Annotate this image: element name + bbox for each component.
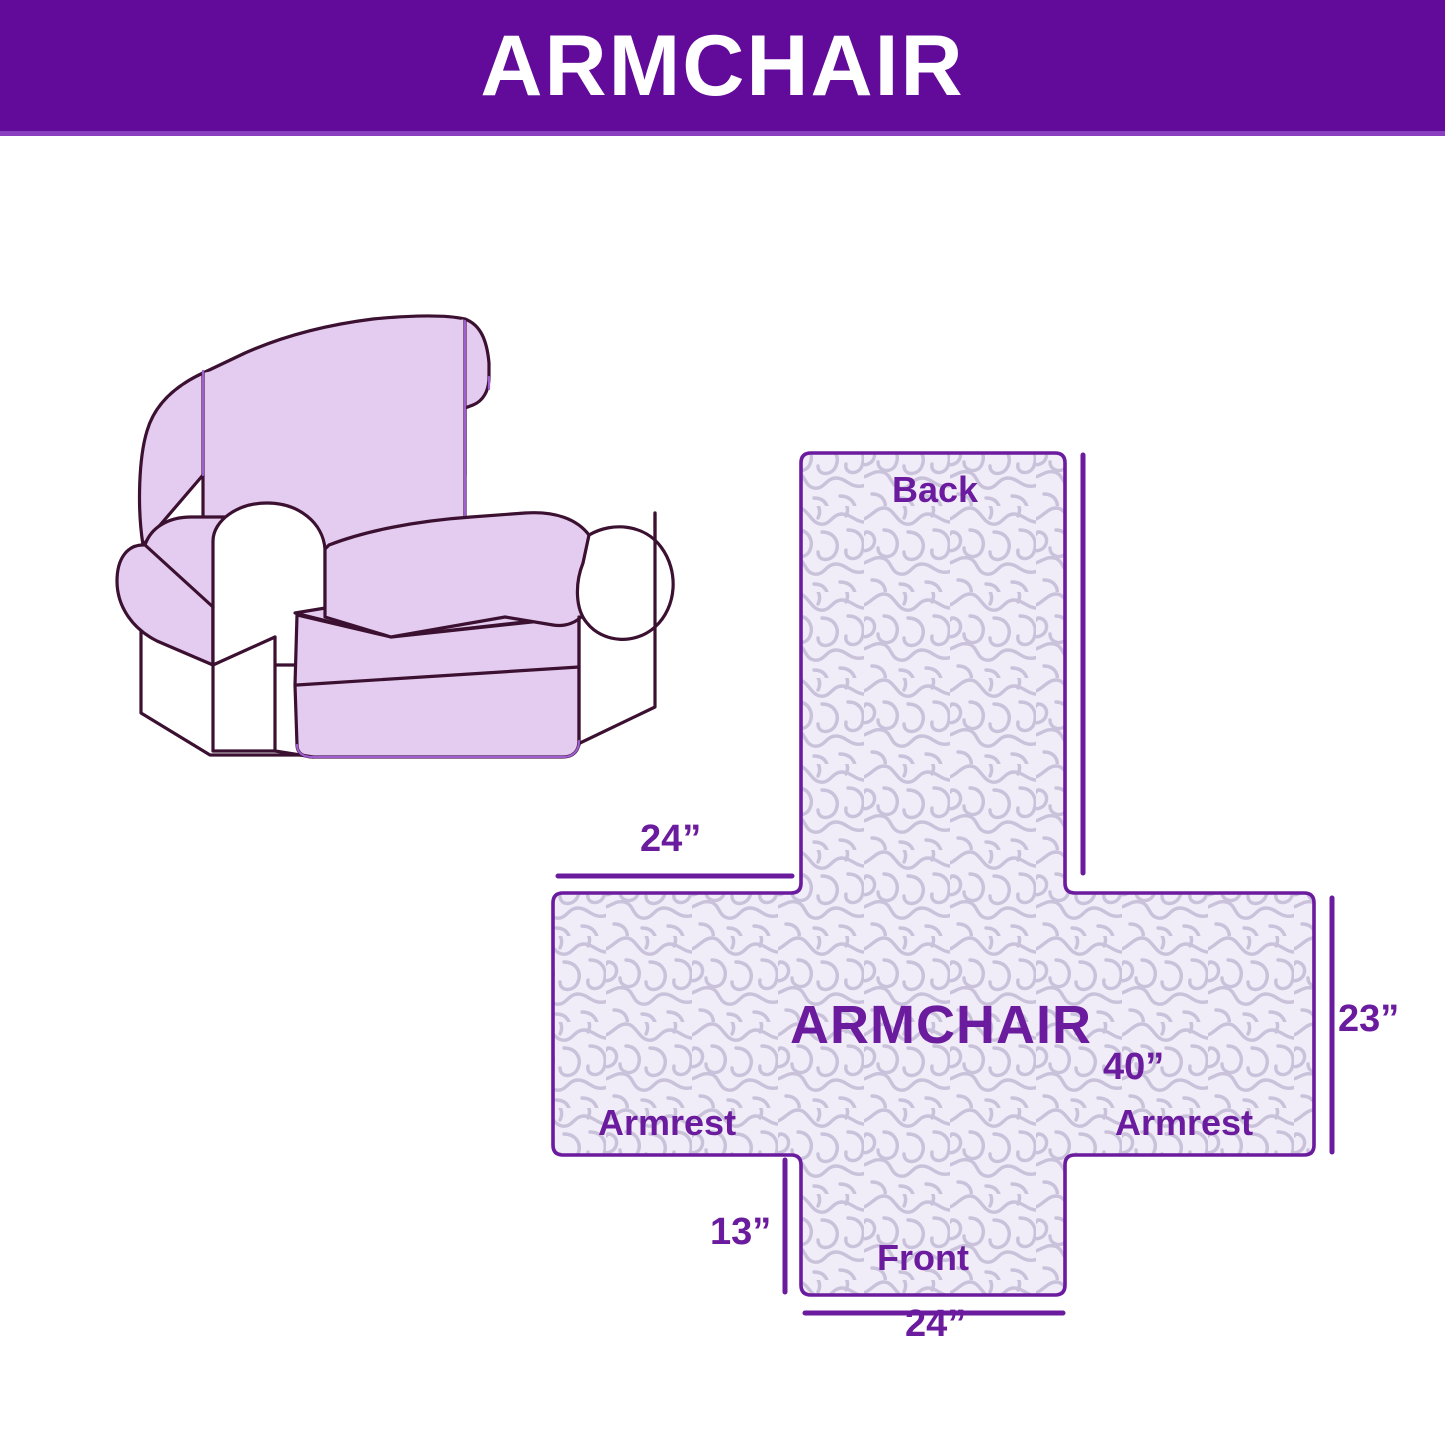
dimension-label-front-height: 13”	[710, 1213, 771, 1251]
panel-label-armrest-right: Armrest	[1115, 1105, 1253, 1141]
page-header-banner: ARMCHAIR	[0, 0, 1445, 131]
dimension-label-armrest-span: 23”	[1338, 1000, 1399, 1038]
slipcover-dimension-diagram: Back Armrest Armrest Front ARMCHAIR 40” …	[520, 420, 1420, 1380]
panel-label-armrest-left: Armrest	[598, 1105, 736, 1141]
page-title: ARMCHAIR	[480, 23, 964, 109]
product-diagram-page: ARMCHAIR .ln { fill:none; stroke:#3B1030…	[0, 0, 1445, 1445]
dimension-label-back-height: 40”	[1103, 1048, 1164, 1086]
dimension-label-front-width: 24”	[905, 1305, 966, 1343]
dimension-label-back-width: 24”	[640, 820, 701, 858]
diagram-center-label: ARMCHAIR	[790, 998, 1092, 1052]
panel-label-back: Back	[892, 472, 978, 508]
header-underline	[0, 131, 1445, 136]
panel-label-front: Front	[877, 1240, 969, 1276]
cross-shape-svg	[520, 420, 1420, 1380]
